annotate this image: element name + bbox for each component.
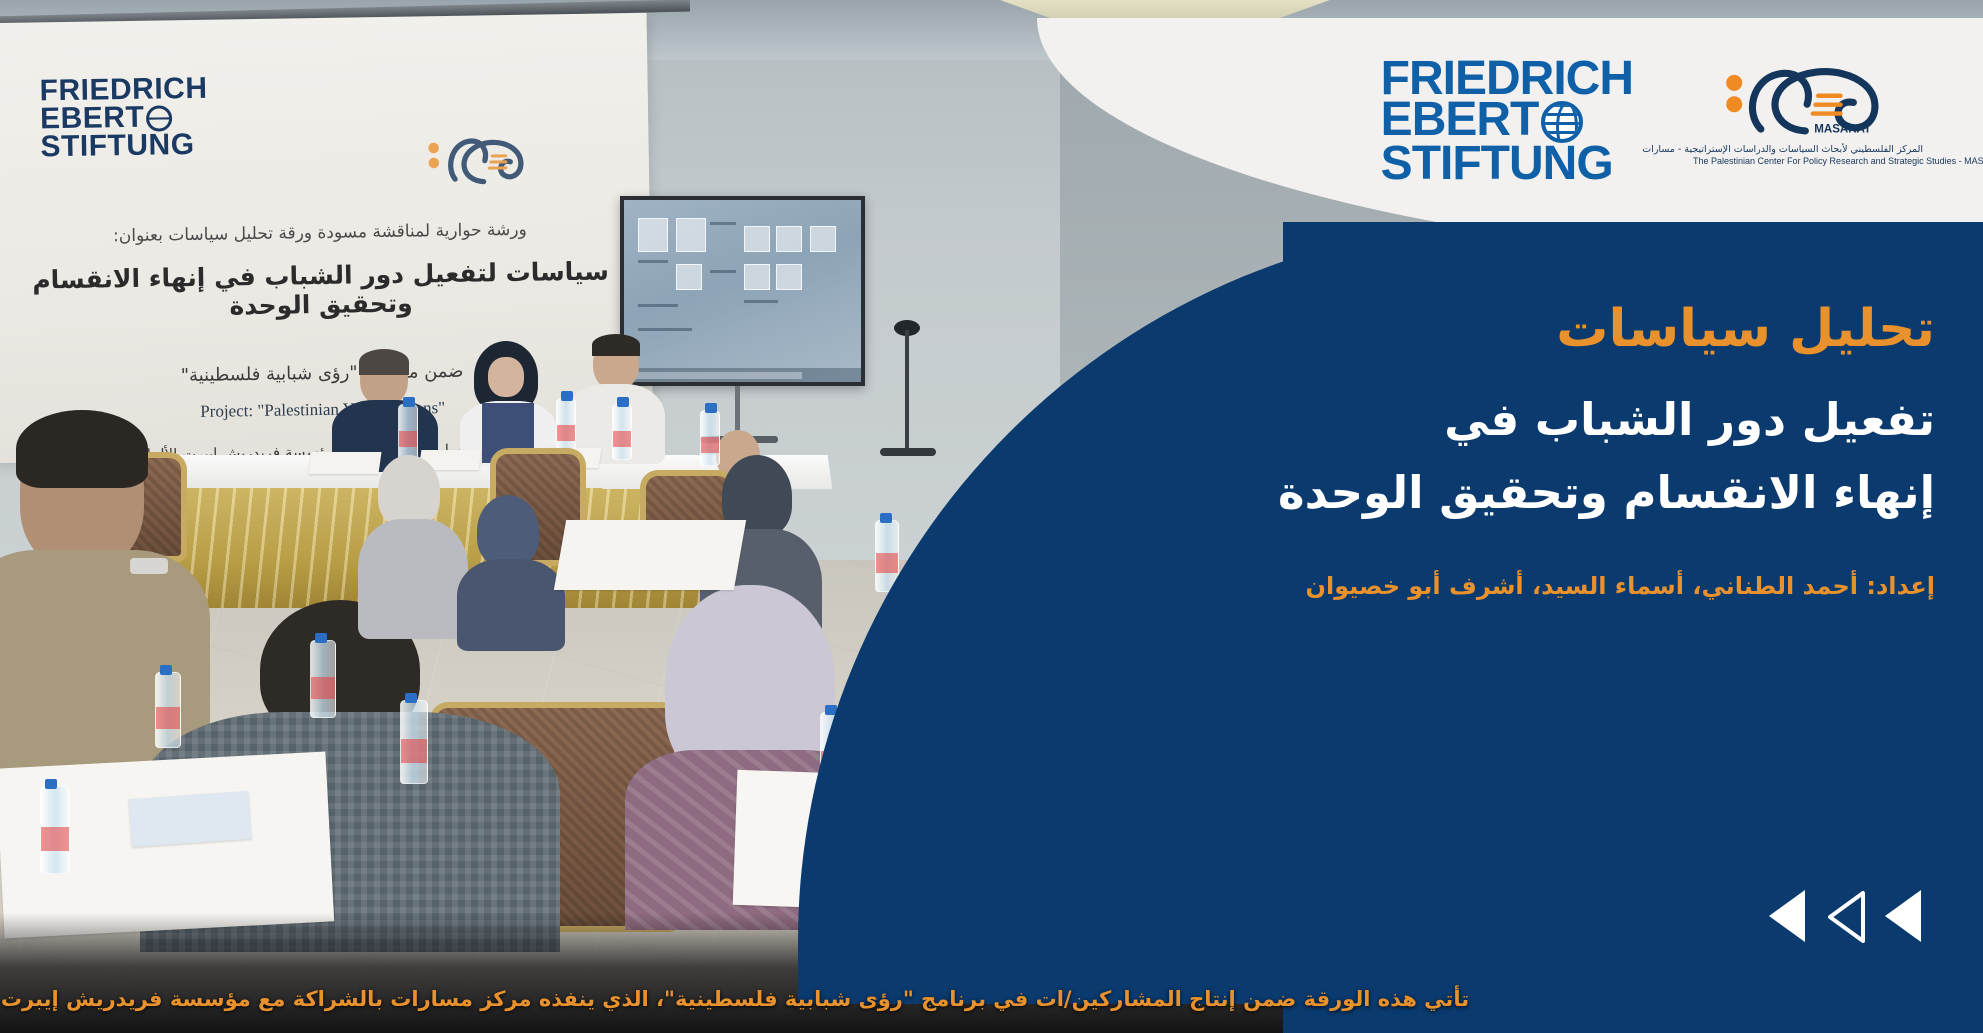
masarat-logo: MASARAT المركز الفلسطيني لأبحاث السياسات… xyxy=(1693,58,1923,166)
title-block: تحليل سياسات تفعيل دور الشباب في إنهاء ا… xyxy=(1195,300,1935,600)
logo-row: FRIEDRICH EBERT STIFTUNG MASARAT المركز … xyxy=(1381,58,1923,185)
panelist-1 xyxy=(330,352,440,462)
banner-fes-logo: FRIEDRICH EBERT STIFTUNG xyxy=(39,75,208,161)
water-bottle xyxy=(310,640,336,718)
footer-caption: تأتي هذه الورقة ضمن إنتاج المشاركين/ات ف… xyxy=(0,987,1470,1011)
tissue-box xyxy=(128,791,251,847)
title-line-1: تفعيل دور الشباب في xyxy=(1195,384,1935,457)
participant-back-1 xyxy=(350,455,470,635)
title-line-2: إنهاء الانقسام وتحقيق الوحدة xyxy=(1195,457,1935,530)
banner-text-line1: ورشة حوارية لمناقشة مسودة ورقة تحليل سيا… xyxy=(0,218,650,248)
fes-line3: STIFTUNG xyxy=(1381,143,1633,184)
water-bottle xyxy=(40,786,70,874)
poster-canvas: FRIEDRICH EBERT STIFTUNG ورشة حوارية لمن… xyxy=(0,0,1983,1033)
nav-arrows[interactable] xyxy=(1769,890,1921,942)
authors-line: إعداد: أحمد الطناني، أسماء السيد، أشرف أ… xyxy=(1195,572,1935,600)
water-bottle xyxy=(612,404,632,460)
fes-logo: FRIEDRICH EBERT STIFTUNG xyxy=(1381,58,1633,185)
water-bottle xyxy=(556,398,576,454)
microphone-base xyxy=(880,448,936,456)
masarat-wordmark: MASARAT xyxy=(1814,124,1871,136)
play-left-solid-icon[interactable] xyxy=(1769,890,1805,942)
microphone-stand xyxy=(905,330,909,450)
water-bottle xyxy=(155,672,181,748)
play-left-outline-icon[interactable] xyxy=(1827,890,1863,942)
globe-icon xyxy=(146,105,172,131)
panelist-2 xyxy=(460,345,556,463)
banner-fes-line3: STIFTUNG xyxy=(40,130,208,160)
masarat-arabic-name: المركز الفلسطيني لأبحاث السياسات والدراس… xyxy=(1693,144,1923,155)
banner-masarat-logo xyxy=(418,123,539,195)
kicker-label: تحليل سياسات xyxy=(1195,300,1935,360)
banner-text-line2: سياسات لتفعيل دور الشباب في إنهاء الانقس… xyxy=(0,256,651,324)
globe-icon xyxy=(1541,101,1583,143)
play-left-solid-icon-2[interactable] xyxy=(1885,890,1921,942)
participant-back-2 xyxy=(455,495,565,645)
masarat-mark-icon: MASARAT xyxy=(1703,58,1913,138)
water-bottle xyxy=(398,404,418,460)
masarat-english-name: The Palestinian Center For Policy Resear… xyxy=(1693,156,1923,166)
page-title: تفعيل دور الشباب في إنهاء الانقسام وتحقي… xyxy=(1195,384,1935,530)
mid-table xyxy=(554,520,746,590)
water-bottle xyxy=(400,700,428,784)
